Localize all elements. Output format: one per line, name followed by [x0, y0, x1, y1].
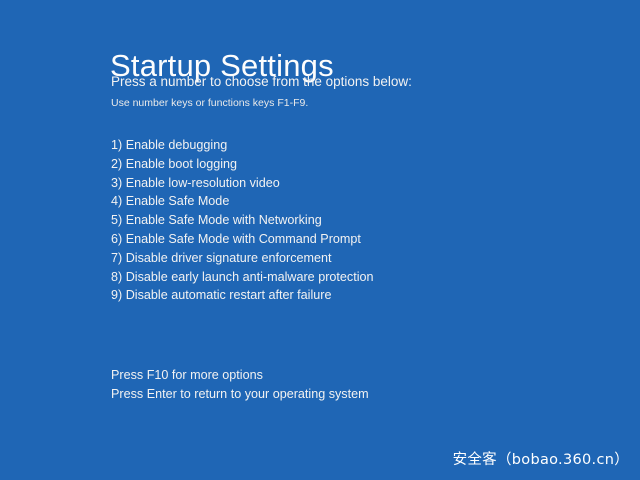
return-to-os-action[interactable]: Press Enter to return to your operating …: [111, 385, 369, 404]
option-label-2: 2) Enable boot logging: [111, 157, 237, 171]
keyboard-hint-text: Use number keys or functions keys F1-F9.: [111, 96, 308, 110]
option-label-3: 3) Enable low-resolution video: [111, 176, 280, 190]
option-item-5[interactable]: 5) Enable Safe Mode with Networking: [111, 211, 541, 230]
option-label-5: 5) Enable Safe Mode with Networking: [111, 213, 322, 227]
option-item-7[interactable]: 7) Disable driver signature enforcement: [111, 249, 541, 268]
footer-actions: Press F10 for more options Press Enter t…: [111, 366, 369, 404]
option-item-1[interactable]: 1) Enable debugging: [111, 136, 541, 155]
option-label-9: 9) Disable automatic restart after failu…: [111, 288, 331, 302]
subtitle-instruction: Press a number to choose from the option…: [111, 73, 412, 91]
option-item-3[interactable]: 3) Enable low-resolution video: [111, 174, 541, 193]
startup-options-list: 1) Enable debugging 2) Enable boot loggi…: [111, 136, 541, 305]
option-item-8[interactable]: 8) Disable early launch anti-malware pro…: [111, 268, 541, 287]
option-label-6: 6) Enable Safe Mode with Command Prompt: [111, 232, 361, 246]
more-options-action[interactable]: Press F10 for more options: [111, 366, 369, 385]
option-label-7: 7) Disable driver signature enforcement: [111, 251, 332, 265]
option-item-2[interactable]: 2) Enable boot logging: [111, 155, 541, 174]
option-label-4: 4) Enable Safe Mode: [111, 194, 229, 208]
option-item-6[interactable]: 6) Enable Safe Mode with Command Prompt: [111, 230, 541, 249]
option-label-1: 1) Enable debugging: [111, 138, 227, 152]
option-item-9[interactable]: 9) Disable automatic restart after failu…: [111, 286, 541, 305]
startup-settings-screen: Startup Settings Press a number to choos…: [0, 0, 640, 480]
option-label-8: 8) Disable early launch anti-malware pro…: [111, 270, 374, 284]
option-item-4[interactable]: 4) Enable Safe Mode: [111, 192, 541, 211]
watermark-text: 安全客（bobao.360.cn）: [453, 448, 629, 469]
